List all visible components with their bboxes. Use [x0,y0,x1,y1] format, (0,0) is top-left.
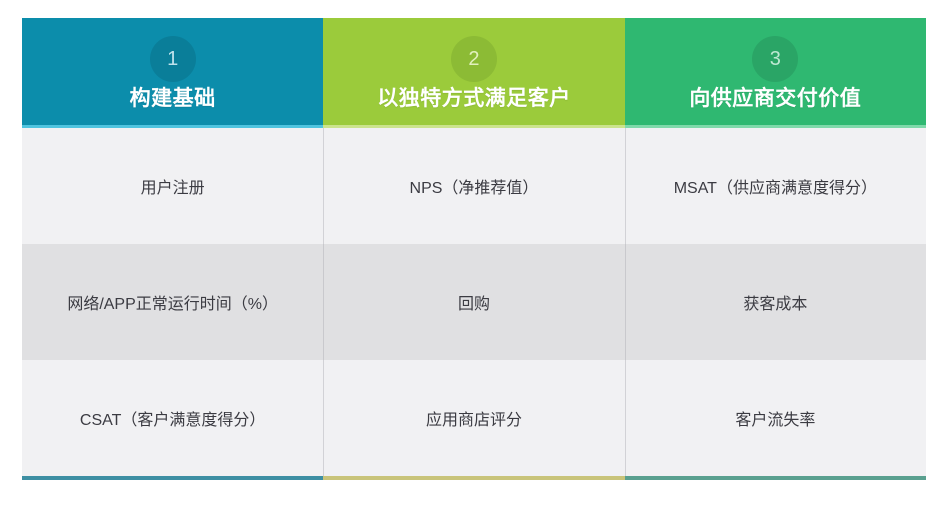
table-row: 用户注册 NPS（净推荐值） MSAT（供应商满意度得分） [22,128,926,244]
column-number-badge-2: 2 [451,36,497,82]
bottom-accent-segment-2 [323,476,624,480]
column-number-badge-1: 1 [150,36,196,82]
table-cell: 用户注册 [22,128,323,244]
table-bottom-accent-bar [22,476,926,480]
table-cell: CSAT（客户满意度得分） [22,360,323,476]
table-cell: 网络/APP正常运行时间（%） [22,244,323,360]
column-title-3: 向供应商交付价值 [689,88,861,109]
column-number-2: 2 [468,48,479,71]
column-title-1: 构建基础 [130,88,216,109]
column-number-3: 3 [770,48,781,71]
column-title-2: 以独特方式满足客户 [377,88,571,109]
column-header-2[interactable]: 2 以独特方式满足客户 [323,18,624,128]
table-cell: 应用商店评分 [323,360,624,476]
column-number-badge-3: 3 [752,36,798,82]
table-cell: 获客成本 [625,244,926,360]
table-cell: NPS（净推荐值） [323,128,624,244]
column-header-1[interactable]: 1 构建基础 [22,18,323,128]
table-row: CSAT（客户满意度得分） 应用商店评分 客户流失率 [22,360,926,476]
table-row: 网络/APP正常运行时间（%） 回购 获客成本 [22,244,926,360]
bottom-accent-segment-1 [22,476,323,480]
bottom-accent-segment-3 [625,476,926,480]
column-header-3[interactable]: 3 向供应商交付价值 [625,18,926,128]
column-number-1: 1 [167,48,178,71]
table-header-row: 1 构建基础 2 以独特方式满足客户 3 向供应商交付价值 [22,18,926,128]
metrics-table: 1 构建基础 2 以独特方式满足客户 3 向供应商交付价值 用户注册 NPS（净… [22,18,926,480]
table-cell: 客户流失率 [625,360,926,476]
table-cell: 回购 [323,244,624,360]
table-cell: MSAT（供应商满意度得分） [625,128,926,244]
table-body: 用户注册 NPS（净推荐值） MSAT（供应商满意度得分） 网络/APP正常运行… [22,128,926,476]
